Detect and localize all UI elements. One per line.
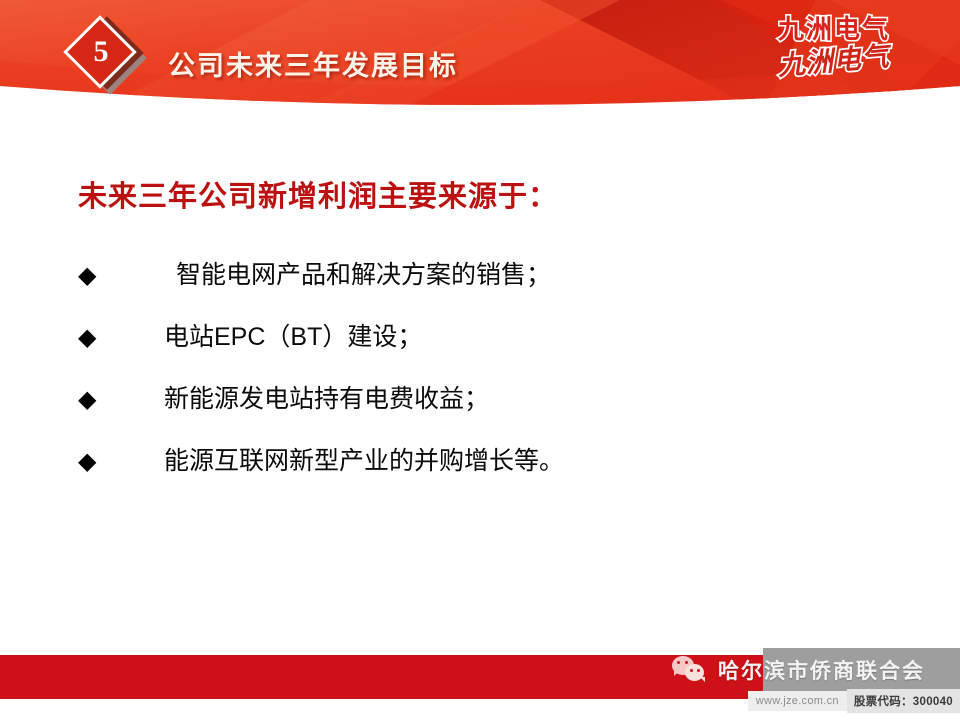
list-item: ◆ 能源互联网新型产业的并购增长等。 [78,444,858,506]
list-item: ◆ 新能源发电站持有电费收益； [78,382,858,444]
list-item-label: 智能电网产品和解决方案的销售； [176,258,551,292]
slide-root: 5 公司未来三年发展目标 九洲电气 九洲电气 未来三年公司新增利润主要来源于： … [0,0,960,720]
slide-body: 未来三年公司新增利润主要来源于： ◆ 智能电网产品和解决方案的销售； ◆ 电站E… [0,118,960,655]
company-logo: 九洲电气 九洲电气 [764,12,904,84]
list-item: ◆ 智能电网产品和解决方案的销售； [78,258,858,320]
page-title: 公司未来三年发展目标 [168,44,458,83]
watermark-label: 哈尔滨市侨商联合会 [718,655,925,685]
section-number-badge: 5 [72,22,146,96]
list-item-label: 新能源发电站持有电费收益； [164,382,489,416]
diamond-bullet-icon: ◆ [78,326,96,350]
header-banner: 5 公司未来三年发展目标 九洲电气 九洲电气 [0,0,960,118]
website-url[interactable]: www.jze.com.cn [748,691,847,711]
diamond-bullet-icon: ◆ [78,388,96,412]
logo-graphic: 九洲电气 九洲电气 [764,12,904,82]
stock-code-label: 股票代码：300040 [847,689,960,713]
footer-info-row: www.jze.com.cn 股票代码：300040 [748,690,960,712]
svg-text:九洲电气: 九洲电气 [777,14,890,44]
list-item-label: 电站EPC（BT）建设； [164,320,422,354]
list-item: ◆ 电站EPC（BT）建设； [78,320,858,382]
logo-name-script: 九洲电气 [776,41,894,81]
lead-heading: 未来三年公司新增利润主要来源于： [78,173,558,215]
logo-mark-jze: 九洲电气 [777,14,890,44]
wechat-watermark: 哈尔滨市侨商联合会 [660,648,960,692]
svg-text:九洲电气: 九洲电气 [776,41,894,81]
diamond-bullet-icon: ◆ [78,450,96,474]
badge-number-label: 5 [72,22,130,82]
diamond-bullet-icon: ◆ [78,264,96,288]
wechat-icon [672,654,712,686]
bullet-list: ◆ 智能电网产品和解决方案的销售； ◆ 电站EPC（BT）建设； ◆ 新能源发电… [78,258,858,506]
list-item-label: 能源互联网新型产业的并购增长等。 [164,444,564,478]
